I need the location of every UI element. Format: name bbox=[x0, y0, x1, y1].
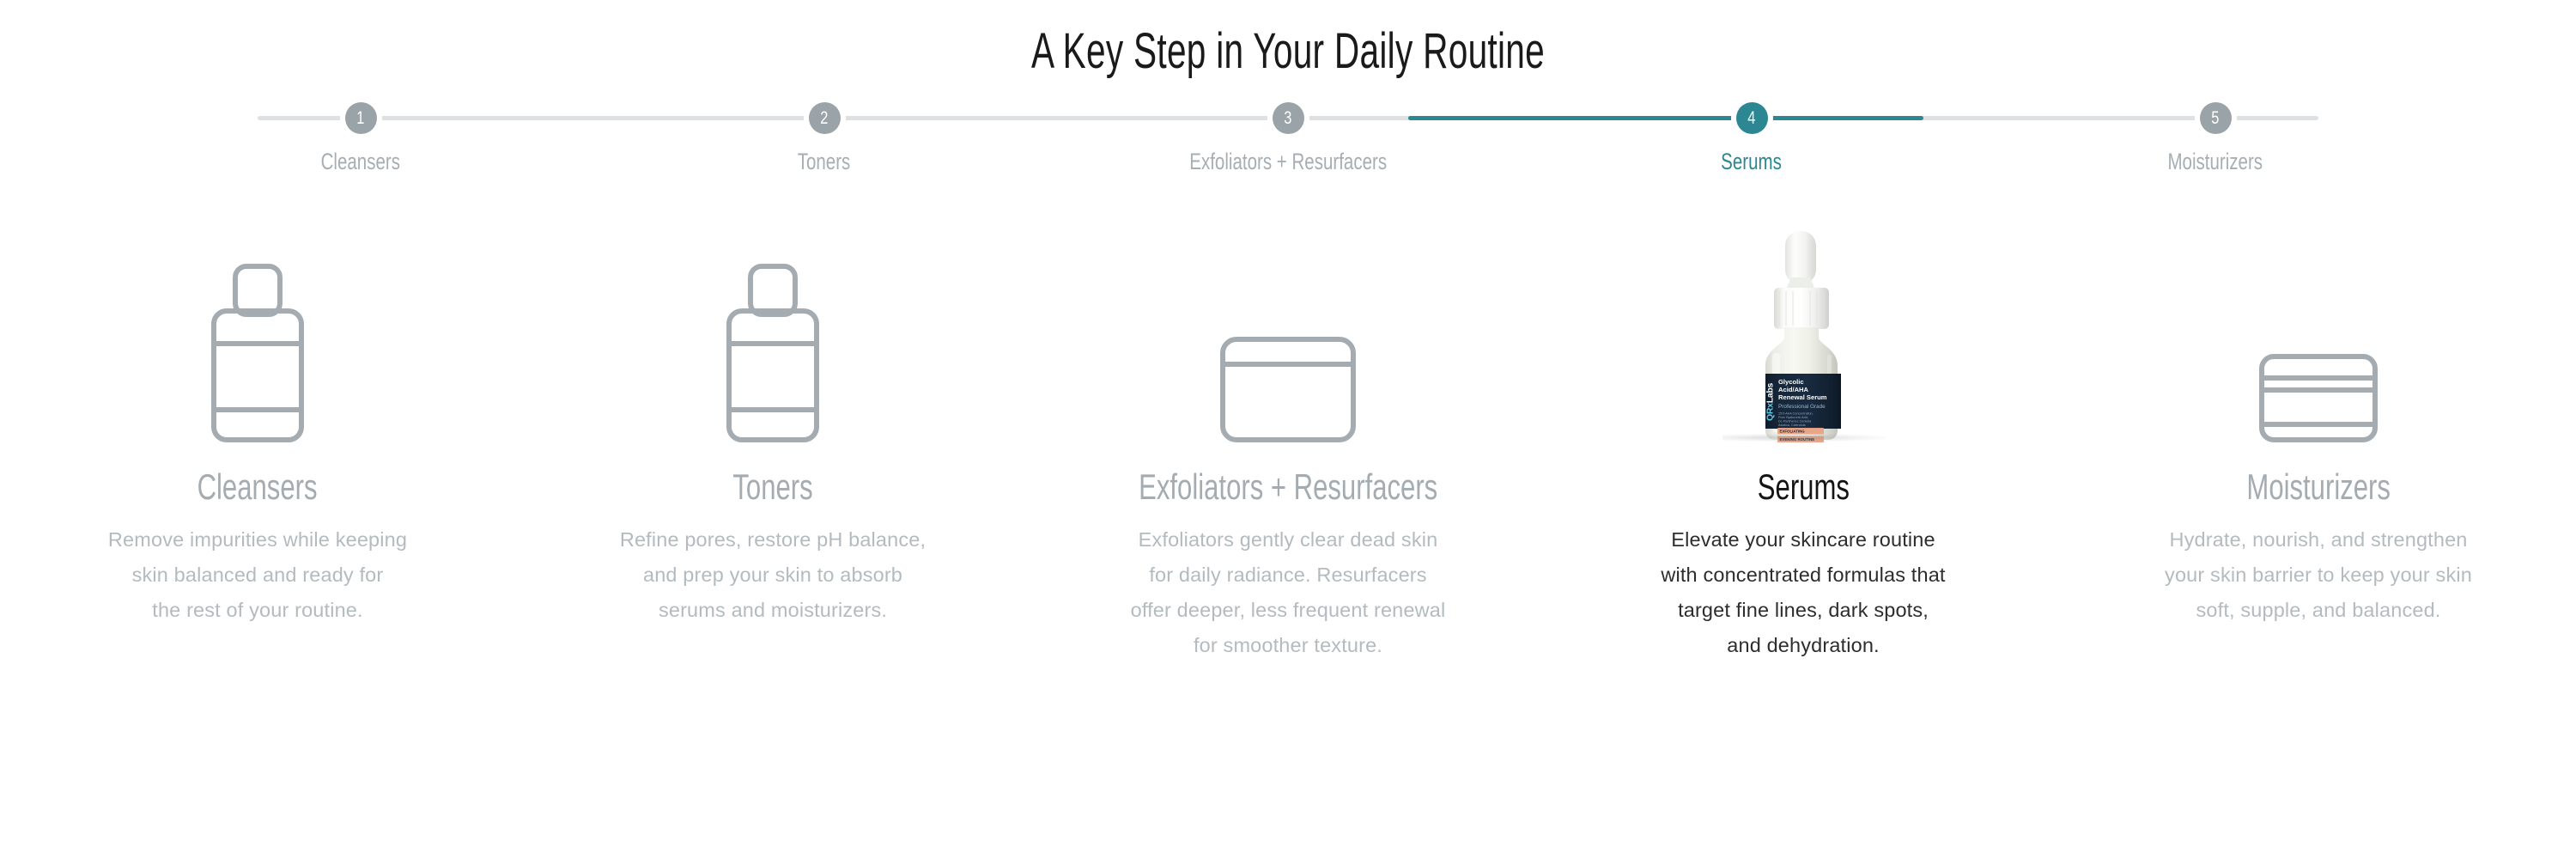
product-name-line-3: Renewal Serum bbox=[1778, 393, 1827, 401]
svg-text:QRxLabs: QRxLabs bbox=[1765, 383, 1776, 421]
product-grade: Professional Grade bbox=[1778, 404, 1826, 410]
step-label: Toners bbox=[798, 149, 851, 175]
card-description-line: the rest of your routine. bbox=[108, 593, 407, 628]
step-number: 3 bbox=[1284, 109, 1291, 127]
card-description-line: Exfoliators gently clear dead skin bbox=[1131, 522, 1446, 558]
category-card-moisturizers[interactable]: Moisturizers Hydrate, nourish, and stren… bbox=[2061, 224, 2576, 663]
step-number: 1 bbox=[356, 109, 364, 127]
step-number: 2 bbox=[820, 109, 828, 127]
step-number-badge[interactable]: 3 bbox=[1273, 102, 1304, 134]
product-name-line-2: Acid/AHA bbox=[1778, 386, 1809, 393]
product-ingredient-line: 15% AHA Concentration, bbox=[1778, 412, 1814, 416]
card-title: Exfoliators + Resurfacers bbox=[1139, 466, 1437, 508]
card-artwork bbox=[202, 224, 313, 443]
routine-stepper: 1 Cleansers 2 Toners 3 Exfoliators + Res… bbox=[129, 102, 2447, 205]
serum-dropper-bottle-photo: QRxLabs Glycolic Acid/AHA Renewal Serum … bbox=[1717, 224, 1889, 443]
card-description-line: Elevate your skincare routine bbox=[1661, 522, 1945, 558]
category-card-exfoliators[interactable]: Exfoliators + Resurfacers Exfoliators ge… bbox=[1030, 224, 1546, 663]
step-label: Serums bbox=[1722, 149, 1783, 175]
card-description-line: with concentrated formulas that bbox=[1661, 558, 1945, 593]
step-number-badge[interactable]: 1 bbox=[345, 102, 377, 134]
card-title: Serums bbox=[1757, 466, 1849, 508]
bottle-outline-icon bbox=[717, 263, 829, 443]
card-description-line: Refine pores, restore pH balance, bbox=[620, 522, 926, 558]
card-title: Moisturizers bbox=[2246, 466, 2391, 508]
step-number-badge[interactable]: 5 bbox=[2200, 102, 2232, 134]
card-description: Refine pores, restore pH balance, and pr… bbox=[620, 522, 926, 628]
card-description-line: and dehydration. bbox=[1661, 628, 1945, 663]
step-number-badge[interactable]: 4 bbox=[1736, 102, 1768, 134]
category-cards: Cleansers Remove impurities while keepin… bbox=[0, 224, 2576, 663]
card-description-line: target fine lines, dark spots, bbox=[1661, 593, 1945, 628]
card-description: Remove impurities while keeping skin bal… bbox=[108, 522, 407, 628]
category-card-toners[interactable]: Toners Refine pores, restore pH balance,… bbox=[515, 224, 1030, 663]
card-description-line: skin balanced and ready for bbox=[108, 558, 407, 593]
step-number-badge[interactable]: 2 bbox=[809, 102, 841, 134]
card-artwork bbox=[717, 224, 829, 443]
category-card-serums[interactable]: QRxLabs Glycolic Acid/AHA Renewal Serum … bbox=[1546, 224, 2061, 663]
bottle-outline-icon bbox=[202, 263, 313, 443]
card-description: Exfoliators gently clear dead skin for d… bbox=[1131, 522, 1446, 663]
card-title: Cleansers bbox=[197, 466, 318, 508]
product-shadow bbox=[1722, 434, 1886, 442]
product-ingredient-line: DL-Panthenol, Centella bbox=[1778, 420, 1812, 424]
card-description-line: serums and moisturizers. bbox=[620, 593, 926, 628]
card-description-line: your skin barrier to keep your skin bbox=[2165, 558, 2472, 593]
card-artwork bbox=[1219, 224, 1357, 443]
jar-outline-icon bbox=[1219, 336, 1357, 443]
stepper-item-cleansers[interactable]: 1 Cleansers bbox=[129, 102, 592, 175]
card-description-line: soft, supple, and balanced. bbox=[2165, 593, 2472, 628]
step-label: Cleansers bbox=[321, 149, 400, 175]
step-label: Moisturizers bbox=[2168, 149, 2263, 175]
card-title: Toners bbox=[732, 466, 812, 508]
routine-stepper-page: A Key Step in Your Daily Routine 1 Clean… bbox=[0, 0, 2576, 841]
stepper-items: 1 Cleansers 2 Toners 3 Exfoliators + Res… bbox=[129, 102, 2447, 175]
card-artwork bbox=[2258, 224, 2379, 443]
card-description-line: for smoother texture. bbox=[1131, 628, 1446, 663]
card-description-line: and prep your skin to absorb bbox=[620, 558, 926, 593]
stepper-item-exfoliators[interactable]: 3 Exfoliators + Resurfacers bbox=[1056, 102, 1520, 175]
product-ingredient-line: Asiatica, Calendula bbox=[1778, 424, 1807, 427]
product-badge: EXFOLIATING bbox=[1780, 430, 1806, 434]
card-description: Elevate your skincare routine with conce… bbox=[1661, 522, 1945, 663]
product-name-line-1: Glycolic bbox=[1778, 378, 1804, 386]
serum-bottle-graphic: QRxLabs Glycolic Acid/AHA Renewal Serum … bbox=[1717, 224, 1889, 443]
card-description-line: offer deeper, less frequent renewal bbox=[1131, 593, 1446, 628]
page-title: A Key Step in Your Daily Routine bbox=[386, 0, 2190, 80]
stepper-item-moisturizers[interactable]: 5 Moisturizers bbox=[1984, 102, 2447, 175]
card-description-line: Remove impurities while keeping bbox=[108, 522, 407, 558]
step-label: Exfoliators + Resurfacers bbox=[1189, 149, 1387, 175]
card-artwork: QRxLabs Glycolic Acid/AHA Renewal Serum … bbox=[1717, 224, 1889, 443]
card-description: Hydrate, nourish, and strengthen your sk… bbox=[2165, 522, 2472, 628]
step-number: 5 bbox=[2211, 109, 2219, 127]
product-ingredient-line: Pure Hyaluronic Acid, bbox=[1778, 416, 1808, 419]
category-card-cleansers[interactable]: Cleansers Remove impurities while keepin… bbox=[0, 224, 515, 663]
wide-jar-outline-icon bbox=[2258, 353, 2379, 443]
card-description-line: Hydrate, nourish, and strengthen bbox=[2165, 522, 2472, 558]
stepper-item-serums[interactable]: 4 Serums bbox=[1520, 102, 1984, 175]
card-description-line: for daily radiance. Resurfacers bbox=[1131, 558, 1446, 593]
stepper-item-toners[interactable]: 2 Toners bbox=[592, 102, 1056, 175]
step-number: 4 bbox=[1747, 109, 1755, 127]
